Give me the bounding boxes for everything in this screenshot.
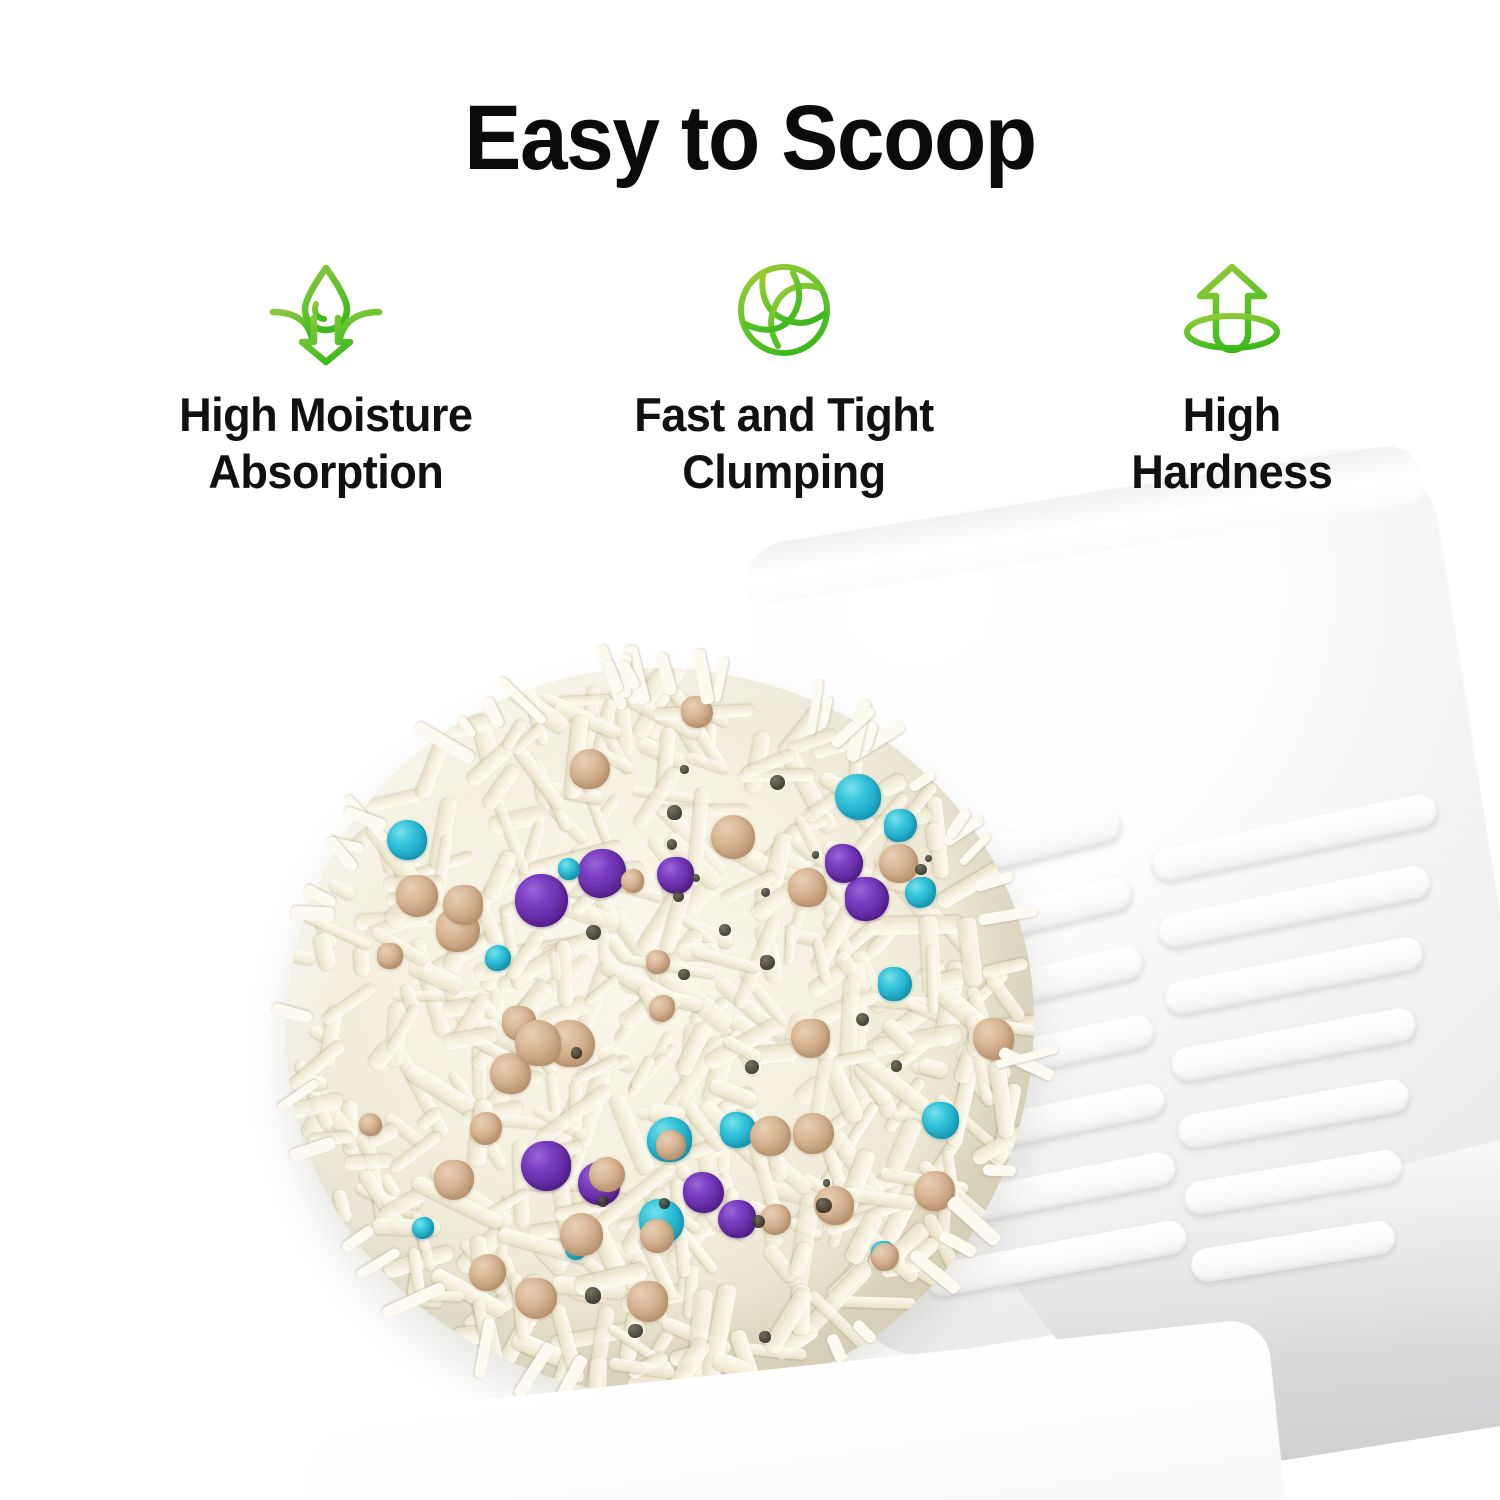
litter-stick — [788, 1193, 821, 1290]
litter-stick — [867, 1030, 944, 1090]
litter-stick — [570, 1053, 620, 1087]
litter-stick — [664, 863, 679, 901]
feature-fast-and-tight-clumping: Fast and Tight Clumping — [574, 262, 994, 501]
granule-tan — [469, 1254, 506, 1291]
litter-stick — [608, 685, 701, 741]
litter-stick — [824, 1079, 891, 1135]
litter-stick — [747, 1138, 786, 1227]
scoop-slot-grid — [818, 763, 1500, 1360]
granule-teal — [647, 1117, 692, 1162]
litter-stick — [684, 1264, 700, 1319]
litter-stick — [550, 1303, 585, 1385]
litter-stick — [769, 863, 830, 889]
litter-stick — [792, 1285, 810, 1335]
litter-stick — [911, 1060, 946, 1078]
litter-stick — [617, 994, 661, 1033]
litter-stick — [632, 668, 692, 740]
litter-stick — [741, 749, 797, 781]
litter-stick — [822, 839, 867, 870]
feature-label: High Hardness — [1131, 386, 1332, 501]
litter-stick — [740, 1343, 807, 1361]
litter-stick — [933, 960, 967, 1048]
litter-stick — [634, 1356, 718, 1398]
litter-stick — [616, 1214, 647, 1231]
granule-tan — [711, 815, 754, 858]
litter-stick — [631, 765, 683, 831]
litter-stick — [644, 671, 678, 731]
litter-stick — [626, 1246, 656, 1277]
granule-dark-speck — [915, 864, 927, 876]
granule-dark-speck — [597, 1196, 609, 1208]
litter-stick — [840, 792, 910, 871]
litter-stick — [803, 791, 844, 824]
granule-tan — [443, 885, 483, 925]
litter-stick — [470, 991, 543, 1073]
litter-stick — [411, 937, 452, 1037]
litter-stick — [627, 1367, 710, 1396]
granule-teal — [878, 967, 913, 1002]
litter-stick — [852, 1033, 862, 1060]
litter-stick — [585, 907, 633, 965]
litter-stick — [538, 995, 592, 1033]
litter-stick — [781, 748, 839, 835]
litter-stick — [784, 927, 822, 945]
granule-dark-speck — [759, 1331, 771, 1343]
litter-stick — [724, 1188, 738, 1226]
litter-stick — [660, 1315, 733, 1356]
litter-stick — [563, 715, 588, 801]
litter-stick — [936, 1185, 953, 1249]
litter-stick — [657, 1198, 701, 1234]
litter-stick — [932, 968, 966, 994]
litter-stick — [762, 1287, 814, 1357]
litter-stick — [893, 1236, 935, 1267]
litter-stick — [464, 933, 496, 953]
litter-stick — [702, 1033, 741, 1107]
litter-stick — [485, 953, 508, 1029]
litter-stick — [444, 868, 522, 935]
litter-stick — [834, 949, 873, 995]
litter-stick — [558, 1215, 636, 1264]
granule-dark-speck — [680, 765, 689, 774]
litter-stick — [532, 758, 573, 833]
page-title: Easy to Scoop — [53, 92, 1448, 184]
litter-stick — [416, 1106, 444, 1132]
litter-stick — [743, 1044, 798, 1066]
litter-stick — [706, 1037, 778, 1051]
litter-stick — [841, 984, 879, 1004]
litter-stick — [561, 1164, 603, 1237]
litter-stray-fibre — [942, 813, 986, 848]
scoop-slot — [890, 1081, 1167, 1170]
granule-teal — [387, 820, 427, 860]
litter-stick — [447, 1070, 480, 1112]
litter-stick — [497, 1194, 512, 1262]
litter-stick — [866, 1181, 923, 1272]
litter-stick — [661, 1036, 726, 1119]
litter-stick — [556, 693, 644, 706]
litter-stick — [384, 850, 439, 886]
feature-label: Fast and Tight Clumping — [634, 386, 933, 501]
granule-tan — [502, 1006, 536, 1040]
litter-stick — [406, 1252, 422, 1302]
litter-stick — [488, 805, 549, 836]
litter-stick — [860, 805, 932, 837]
litter-stick — [926, 946, 938, 1015]
litter-stick — [347, 788, 427, 817]
litter-stick — [545, 1072, 561, 1118]
litter-stick — [636, 735, 687, 769]
granule-tan — [377, 943, 402, 968]
granule-tan — [490, 1053, 531, 1094]
litter-stick — [384, 877, 443, 893]
litter-stick — [733, 915, 783, 1010]
litter-stray-fibre — [275, 1078, 319, 1113]
litter-stick — [922, 1211, 970, 1288]
granule-tan — [788, 868, 827, 907]
litter-stick — [703, 708, 731, 729]
scoop-slot — [907, 1149, 1179, 1234]
litter-stick — [342, 1100, 360, 1155]
litter-stick — [885, 1242, 977, 1308]
litter-stick — [481, 763, 522, 812]
litter-stick — [397, 850, 422, 917]
litter-stick — [510, 1284, 555, 1314]
granule-dark-speck — [823, 1179, 830, 1186]
litter-stick — [942, 1149, 960, 1209]
litter-stick — [954, 1041, 1010, 1091]
litter-stick — [710, 1350, 755, 1383]
feature-label-line2: Hardness — [1131, 443, 1332, 500]
litter-stick — [648, 1103, 686, 1125]
litter-stick — [662, 1174, 726, 1197]
litter-stick — [808, 1059, 832, 1136]
litter-stick — [729, 1329, 771, 1398]
litter-stray-fibre — [323, 834, 359, 873]
litter-stick — [594, 874, 664, 902]
litter-stick — [650, 1327, 675, 1358]
litter-stick — [739, 967, 790, 1027]
litter-stick — [706, 721, 716, 749]
litter-stick — [679, 943, 720, 960]
litter-stick — [484, 668, 571, 736]
granule-tan — [914, 1171, 954, 1211]
scoop-slot — [1156, 863, 1433, 951]
litter-stick — [835, 914, 885, 962]
litter-stick — [502, 718, 528, 752]
litter-stick — [685, 751, 729, 775]
litter-stick — [385, 1002, 408, 1067]
granule-dark-speck — [692, 874, 700, 882]
litter-stick — [510, 1330, 582, 1374]
litter-stick — [639, 1234, 679, 1301]
litter-stick — [419, 921, 511, 985]
litter-stick — [365, 902, 445, 943]
litter-stick — [708, 1076, 759, 1109]
scoop-slot — [874, 1012, 1157, 1105]
litter-stick — [818, 770, 858, 802]
feature-high-moisture-absorption: High Moisture Absorption — [116, 262, 536, 501]
granule-teal — [485, 945, 511, 971]
litter-stick — [830, 1186, 915, 1210]
litter-stick — [544, 781, 605, 805]
litter-stick — [677, 1094, 727, 1153]
litter-stick — [679, 724, 714, 767]
granule-tan — [973, 1018, 1014, 1059]
litter-stick — [850, 949, 889, 1014]
litter-stick — [472, 993, 544, 1080]
litter-stick — [886, 781, 940, 844]
feature-label: High Moisture Absorption — [179, 386, 472, 501]
litter-stick — [472, 949, 527, 982]
litter-stick — [584, 697, 619, 796]
scoop-slot — [825, 806, 1124, 912]
litter-stick — [410, 1211, 436, 1271]
litter-stick — [465, 1030, 525, 1070]
litter-stick — [472, 718, 503, 773]
litter-stray-fibre — [998, 1046, 1056, 1082]
granule-dark-speck — [586, 925, 601, 940]
litter-stick — [509, 952, 594, 1023]
litter-stick — [596, 1042, 639, 1074]
granule-tan — [515, 1278, 556, 1319]
litter-stray-fibre — [908, 1248, 962, 1295]
litter-stick — [554, 1192, 630, 1221]
litter-stick — [579, 714, 602, 752]
scoop-front-lip — [292, 1317, 1294, 1500]
litter-stick — [721, 1034, 763, 1065]
litter-stick — [872, 851, 941, 930]
litter-stick — [756, 832, 794, 916]
granule-dark-speck — [770, 775, 785, 790]
litter-stray-fibre — [937, 1230, 978, 1260]
litter-stick — [320, 1005, 344, 1067]
litter-stick — [567, 1278, 598, 1302]
litter-stick — [714, 974, 787, 1040]
litter-stick — [880, 1016, 917, 1053]
litter-stick — [620, 1282, 695, 1314]
granule-dark-speck — [812, 851, 819, 858]
granule-tan — [871, 1243, 899, 1271]
litter-stick — [606, 905, 676, 993]
litter-stick — [382, 894, 420, 931]
litter-stick — [651, 795, 729, 878]
granule-dark-speck — [816, 1198, 832, 1214]
litter-stick — [496, 941, 575, 996]
litter-stick — [620, 1187, 671, 1257]
granule-tan — [750, 1116, 790, 1156]
litter-stick — [842, 1209, 884, 1266]
litter-stray-fibre — [381, 1280, 447, 1319]
litter-stick — [389, 1131, 443, 1175]
litter-stick — [576, 741, 603, 790]
litter-stray-fibre — [602, 659, 625, 695]
litter-stick — [378, 1172, 402, 1200]
litter-stick — [822, 1185, 908, 1235]
litter-stick — [533, 1240, 571, 1278]
litter-stick — [328, 878, 358, 902]
litter-stick — [880, 1259, 924, 1278]
litter-stray-fibre — [654, 652, 677, 696]
granule-dark-speck — [659, 1198, 670, 1209]
litter-stick — [817, 1195, 842, 1226]
litter-stick — [459, 1238, 510, 1299]
litter-stick — [871, 1177, 906, 1250]
litter-stick — [844, 1170, 904, 1202]
litter-stick — [572, 1062, 613, 1150]
granule-dark-speck — [667, 805, 682, 820]
litter-stray-fibre — [907, 769, 937, 794]
granule-dark-speck — [585, 1287, 602, 1304]
litter-stick — [373, 1218, 440, 1236]
litter-stick — [600, 957, 685, 1013]
litter-stick — [613, 961, 675, 1047]
litter-stick — [509, 1025, 558, 1078]
granule-teal — [922, 1102, 959, 1139]
litter-stick — [453, 1326, 495, 1346]
granule-tan — [681, 696, 713, 728]
litter-stick — [790, 867, 839, 912]
litter-stray-fibre — [977, 905, 1038, 925]
litter-stick — [807, 689, 834, 733]
litter-stray-fibre — [551, 1353, 589, 1409]
litter-stick — [673, 1158, 728, 1233]
litter-stick — [575, 1210, 607, 1243]
litter-stick — [461, 1101, 524, 1128]
litter-stick — [549, 951, 562, 980]
litter-stick — [688, 1120, 771, 1160]
litter-stick — [703, 1016, 783, 1071]
litter-stick — [840, 976, 860, 1062]
litter-stick — [800, 1172, 835, 1196]
litter-stick — [362, 1136, 390, 1228]
litter-stick — [592, 863, 620, 875]
litter-stick — [501, 978, 555, 1040]
litter-stick — [884, 1076, 927, 1134]
litter-stick — [367, 1122, 401, 1149]
litter-stick — [965, 1013, 992, 1102]
litter-stick — [771, 1320, 821, 1362]
litter-stick — [690, 919, 735, 951]
granule-tan — [760, 1204, 791, 1235]
litter-stick — [589, 874, 610, 908]
litter-stick — [637, 1106, 668, 1122]
water-drop-absorption-icon — [268, 262, 384, 368]
granule-tan — [814, 1186, 854, 1226]
litter-stick — [609, 1092, 657, 1176]
litter-stick — [822, 913, 856, 959]
litter-stray-fibre — [595, 643, 627, 710]
litter-stick — [356, 910, 442, 931]
litter-stick — [927, 907, 973, 957]
litter-clump-ball — [286, 668, 1034, 1398]
litter-stick — [746, 1199, 823, 1241]
granule-tan — [515, 1020, 561, 1066]
litter-stray-fibre — [958, 831, 993, 867]
litter-stick — [483, 849, 519, 902]
litter-stray-fibre — [342, 805, 387, 831]
litter-stick — [713, 1140, 731, 1173]
granule-tan — [436, 909, 480, 953]
litter-stray-fibre — [973, 871, 1014, 893]
litter-stick — [526, 897, 587, 922]
litter-stick — [891, 1220, 933, 1262]
litter-stick — [702, 1283, 738, 1380]
litter-stick — [920, 1163, 956, 1195]
litter-stick — [510, 937, 588, 964]
litter-stick — [814, 1038, 866, 1125]
litter-stick — [677, 1263, 697, 1295]
litter-stick — [860, 1058, 900, 1120]
litter-stick — [488, 787, 530, 876]
litter-stick — [355, 1132, 383, 1171]
litter-stick — [300, 1094, 337, 1143]
litter-stray-fibre — [857, 720, 878, 752]
litter-stick — [952, 1030, 984, 1085]
litter-stick — [577, 1198, 629, 1282]
granule-purple — [515, 874, 568, 927]
scoop-front-lip-group — [733, 427, 1500, 1494]
litter-stick — [670, 1178, 691, 1278]
litter-stick — [668, 1338, 726, 1368]
litter-stick — [777, 699, 831, 760]
litter-stick — [683, 1348, 713, 1397]
litter-stick — [347, 825, 379, 857]
granule-dark-speck — [628, 1324, 643, 1339]
litter-stick — [906, 999, 961, 1029]
litter-stick — [819, 1101, 880, 1189]
litter-stick — [655, 726, 676, 801]
litter-stick — [749, 863, 827, 922]
litter-stick — [585, 685, 601, 715]
litter-stick — [687, 787, 710, 881]
litter-stick — [405, 851, 475, 883]
litter-stray-fibre — [825, 1332, 848, 1364]
litter-stick — [744, 730, 772, 794]
litter-stick — [728, 1012, 762, 1042]
litter-stick — [627, 1351, 670, 1381]
litter-stick — [570, 1081, 582, 1132]
litter-stick — [849, 710, 865, 777]
scoop-slot — [1162, 934, 1426, 1017]
litter-stick — [607, 1323, 673, 1373]
litter-stick — [505, 930, 546, 982]
litter-stray-fibre — [851, 1318, 878, 1345]
litter-stick — [792, 814, 829, 837]
litter-stick — [479, 953, 514, 993]
litter-stick — [821, 1141, 849, 1197]
litter-stick — [570, 884, 604, 917]
feature-label-line2: Clumping — [634, 443, 933, 500]
granule-purple — [578, 849, 626, 897]
litter-stick — [600, 748, 636, 774]
granule-dark-speck — [760, 955, 775, 970]
litter-stick — [655, 1284, 666, 1323]
litter-stick — [382, 1196, 422, 1210]
litter-stick — [355, 1180, 418, 1219]
litter-stick — [478, 1189, 528, 1223]
clumping-ball-icon — [736, 262, 832, 368]
litter-stray-fibre — [271, 1002, 313, 1025]
litter-stray-fibre — [624, 645, 642, 705]
litter-stick — [421, 1291, 464, 1303]
granule-purple — [657, 857, 694, 894]
litter-stick — [828, 1212, 847, 1248]
litter-stick — [872, 1024, 962, 1057]
feature-label-line1: Fast and Tight — [634, 386, 933, 443]
litter-stick — [470, 1235, 491, 1291]
litter-stick — [654, 987, 704, 1012]
